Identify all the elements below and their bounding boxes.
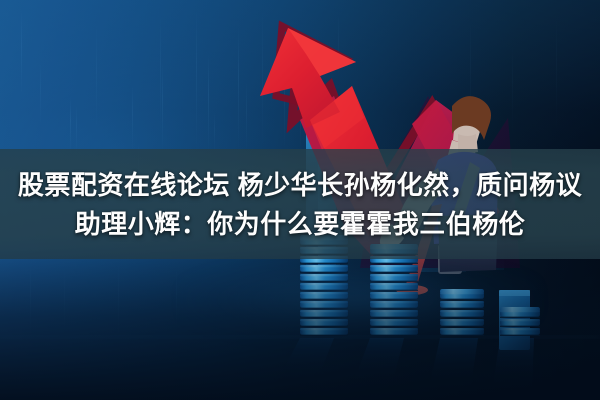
headline-line-2: 助理小辉：你为什么要霍霍我三伯杨伦 [75, 206, 526, 242]
background-bottom-shade [0, 248, 600, 400]
thumbnail-image: 股票配资在线论坛 杨少华长孙杨化然，质问杨议 助理小辉：你为什么要霍霍我三伯杨伦 [0, 0, 600, 400]
headline-line-1: 股票配资在线论坛 杨少华长孙杨化然，质问杨议 [18, 167, 582, 203]
headline: 股票配资在线论坛 杨少华长孙杨化然，质问杨议 助理小辉：你为什么要霍霍我三伯杨伦 [0, 149, 600, 259]
